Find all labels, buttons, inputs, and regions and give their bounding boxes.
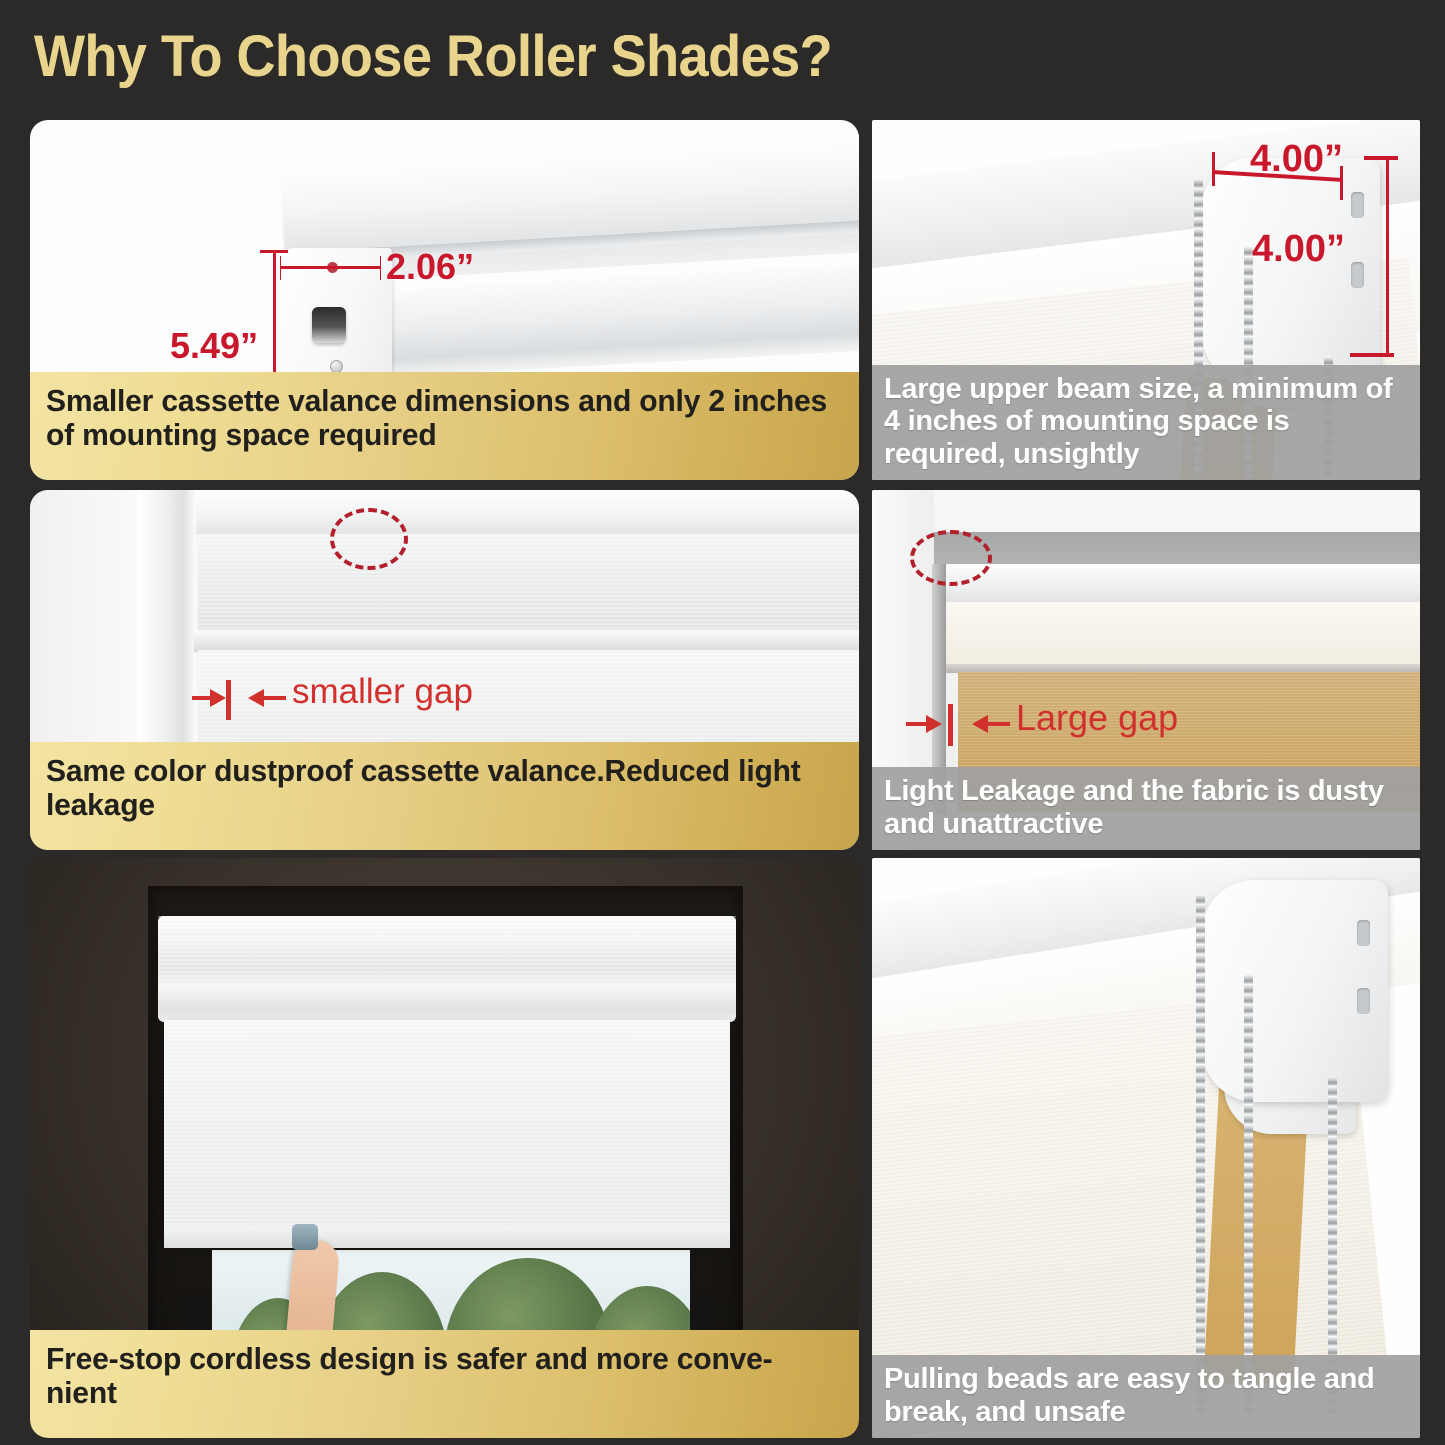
gap-arrow-left-head	[210, 689, 226, 707]
gap-label-smaller: smaller gap	[292, 672, 473, 712]
photo-beaded-chain-shade	[872, 858, 1420, 1438]
dimension-label-beam-height: 4.00”	[1252, 228, 1345, 271]
dimension-label-beam-width: 4.00”	[1250, 138, 1343, 181]
panel-pro-smaller-gap: smaller gap Same color dustproof cassett…	[30, 490, 859, 850]
caption-con-large-beam: Large upper beam size, a minimum of 4 in…	[872, 365, 1420, 480]
highlight-ellipse-large-gap	[910, 530, 992, 586]
dimension-label-height: 5.49”	[170, 325, 258, 367]
gap-label-large: Large gap	[1016, 697, 1178, 739]
dim-tick-bottom-beam-height	[1350, 353, 1394, 357]
dim-tick-top-height	[260, 250, 288, 253]
gap-bar-smaller	[226, 680, 231, 720]
panel-con-large-gap: Large gap Light Leakage and the fabric i…	[872, 490, 1420, 850]
gap-arrow-right-stem	[264, 696, 286, 700]
dim-line-width	[280, 266, 380, 269]
caption-pro-cassette: Smaller cassette valance dimensions and …	[30, 372, 859, 480]
roller-shade-fabric	[164, 1020, 730, 1242]
page-title: Why To Choose Roller Shades?	[34, 23, 832, 90]
dim-tick-top-beam-height	[1364, 156, 1398, 160]
comparison-grid: 2.06” 5.49” Smaller cassette valance dim…	[0, 112, 1445, 1445]
large-gap-arrow-right-stem	[988, 722, 1010, 726]
panel-con-pulling-beads: Pulling beads are easy to tangle and bre…	[872, 858, 1420, 1438]
caption-pro-dustproof: Same color dustproof cassette valance.Re…	[30, 742, 859, 850]
dim-line-beam-height	[1386, 156, 1389, 356]
panel-con-large-beam: 4.00” 4.00” Large upper beam size, a min…	[872, 120, 1420, 480]
cassette-slot	[312, 307, 346, 343]
page-header: Why To Choose Roller Shades?	[0, 0, 1445, 112]
caption-con-beads: Pulling beads are easy to tangle and bre…	[872, 1355, 1420, 1438]
large-gap-arrow-left-stem	[906, 722, 928, 726]
panel-pro-cassette-dimensions: 2.06” 5.49” Smaller cassette valance dim…	[30, 120, 859, 480]
dim-tick-left-beam-width	[1212, 152, 1215, 186]
roller-bracket-upper	[1202, 158, 1380, 386]
shade-bottom-rail	[164, 1226, 730, 1248]
gap-arrow-right-head	[248, 689, 264, 707]
cassette-valance-installed	[158, 916, 736, 988]
panel-pro-cordless-design: Free-stop cordless design is safer and m…	[30, 858, 859, 1438]
caption-con-light-leakage: Light Leakage and the fabric is dusty an…	[872, 767, 1420, 850]
gap-arrow-left-stem	[192, 696, 212, 700]
gap-bar-large	[948, 704, 953, 746]
large-gap-arrow-right-head	[972, 715, 988, 733]
large-gap-arrow-left-head	[926, 715, 942, 733]
caption-pro-cordless: Free-stop cordless design is safer and m…	[30, 1330, 859, 1438]
dim-tick-right-width	[380, 256, 381, 280]
dimension-label-width: 2.06”	[386, 246, 474, 288]
shade-pull-grip	[292, 1224, 318, 1250]
highlight-ellipse-gap	[330, 508, 408, 570]
bead-chain-mid	[1244, 974, 1253, 1414]
roller-bracket-upper-2	[1202, 880, 1388, 1102]
bead-chain-left	[1196, 894, 1205, 1414]
